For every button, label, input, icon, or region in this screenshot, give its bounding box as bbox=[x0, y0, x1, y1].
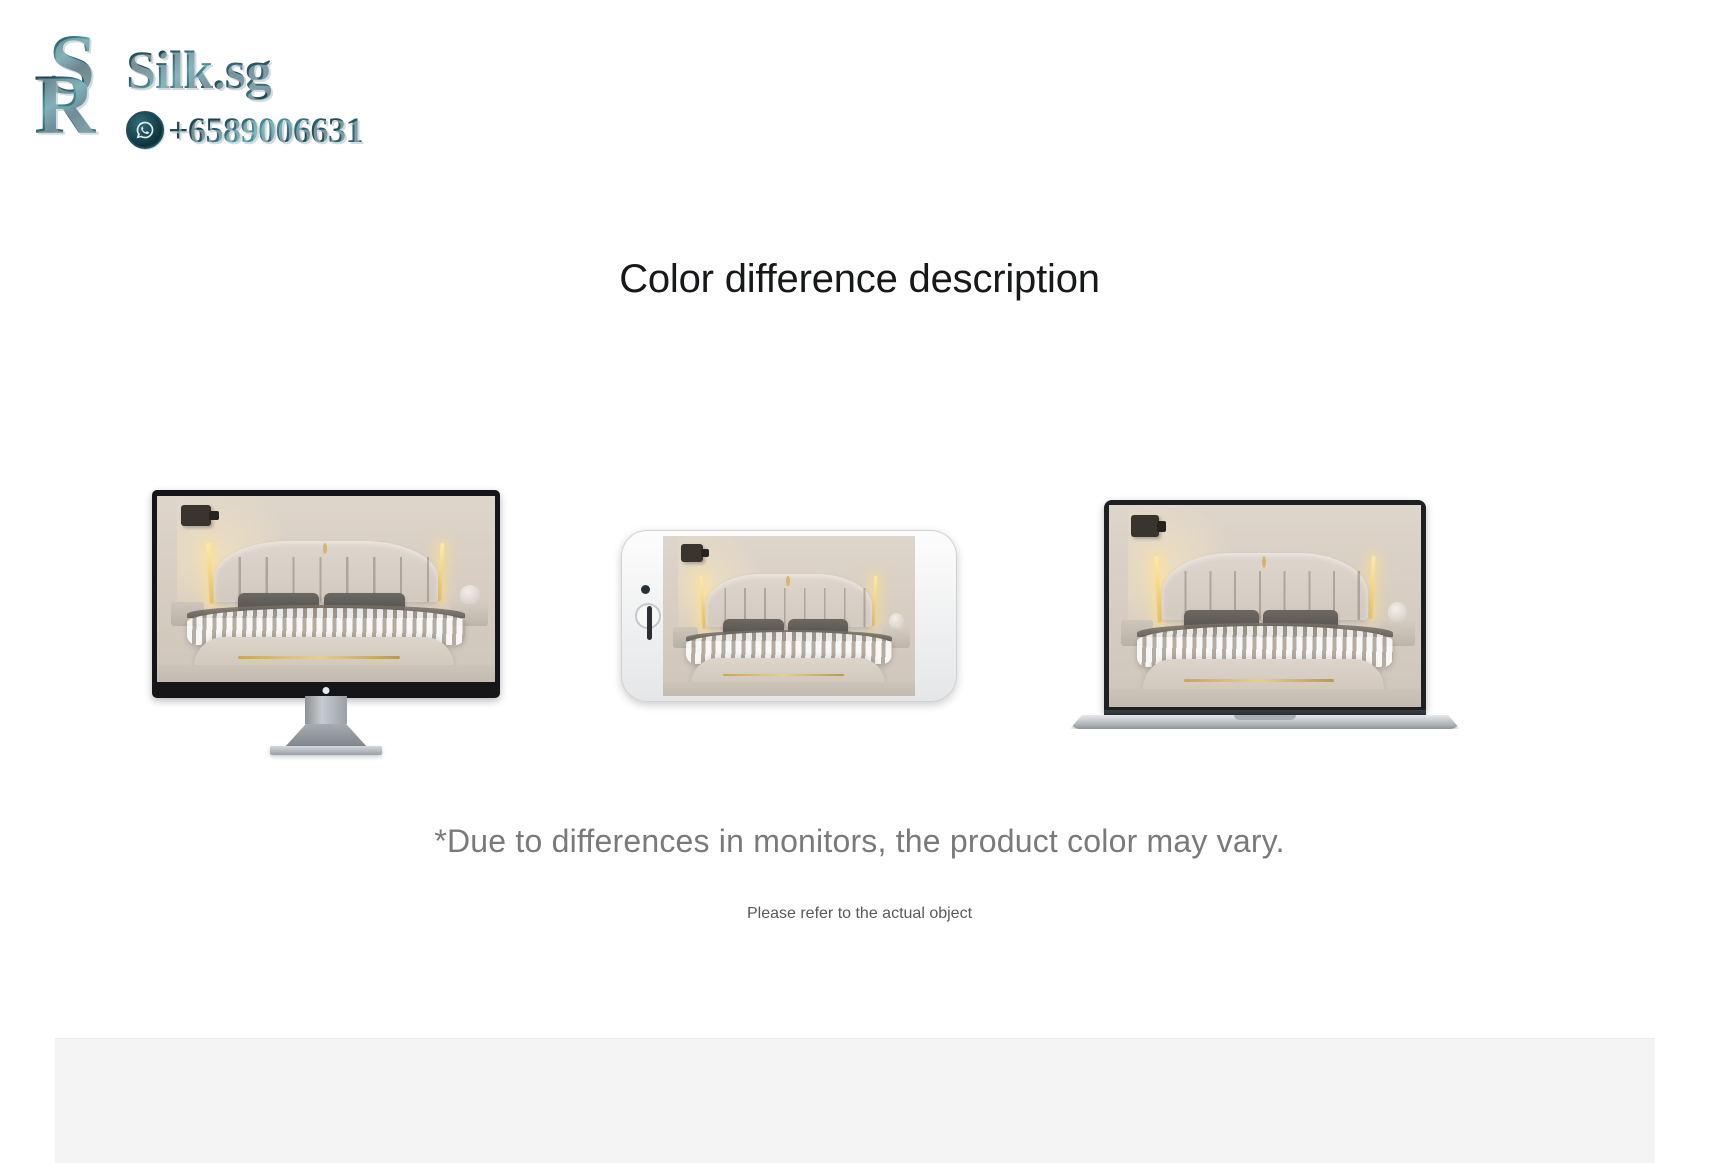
headboard-crest bbox=[1262, 556, 1266, 568]
flower-vase bbox=[460, 585, 480, 604]
logo-monogram: S R bbox=[38, 27, 134, 145]
wall-lamp bbox=[181, 505, 211, 525]
led-strip-right bbox=[1368, 555, 1375, 618]
monogram-letter-r: R bbox=[34, 61, 96, 147]
phone-screen bbox=[663, 536, 915, 696]
device-mockup-phone bbox=[621, 530, 957, 702]
flower-vase bbox=[1388, 602, 1407, 622]
device-mockup-monitor bbox=[152, 490, 500, 775]
headboard-crest bbox=[786, 576, 790, 586]
floor bbox=[157, 665, 495, 682]
led-strip-right bbox=[438, 542, 445, 600]
flower-vase bbox=[889, 613, 904, 629]
whatsapp-icon[interactable] bbox=[126, 111, 164, 149]
headboard-crest bbox=[323, 543, 328, 554]
phone-body bbox=[621, 530, 957, 702]
color-disclaimer-text: *Due to differences in monitors, the pro… bbox=[0, 823, 1719, 860]
led-strip-right bbox=[872, 576, 878, 626]
floor bbox=[663, 682, 915, 696]
brand-wordmark: Silk.sg bbox=[126, 39, 271, 101]
bottom-section-divider bbox=[55, 1038, 1655, 1163]
monitor-power-indicator bbox=[323, 687, 330, 694]
laptop-trackpad-notch bbox=[1234, 715, 1296, 720]
phone-front-camera bbox=[641, 585, 650, 594]
brand-contact-row[interactable]: +6589006631 bbox=[126, 109, 363, 151]
monitor-stand-base bbox=[284, 724, 368, 748]
monitor-screen bbox=[157, 496, 495, 682]
footboard-gold-trim bbox=[723, 674, 844, 677]
refer-to-actual-object-note: Please refer to the actual object bbox=[0, 905, 1719, 923]
brand-phone-number: +6589006631 bbox=[168, 109, 363, 151]
wall-lamp bbox=[1131, 515, 1159, 537]
device-mockup-laptop bbox=[1070, 500, 1460, 762]
laptop-screen bbox=[1109, 505, 1421, 707]
page-title: Color difference description bbox=[0, 257, 1719, 302]
footboard-gold-trim bbox=[238, 656, 400, 659]
monitor-stand-foot bbox=[270, 746, 382, 755]
floor bbox=[1109, 689, 1421, 707]
wall-lamp bbox=[681, 544, 704, 562]
brand-logo[interactable]: S R Silk.sg +6589006631 bbox=[38, 25, 358, 150]
phone-earpiece-speaker bbox=[647, 606, 652, 640]
device-mockups-row bbox=[0, 470, 1719, 790]
laptop-lid bbox=[1104, 500, 1426, 712]
bedroom-product-photo bbox=[663, 536, 915, 696]
monitor-bezel bbox=[152, 490, 500, 698]
bedroom-product-photo bbox=[157, 496, 495, 682]
bedroom-product-photo bbox=[1109, 505, 1421, 707]
monitor-stand-neck bbox=[305, 696, 347, 724]
footboard-gold-trim bbox=[1184, 679, 1334, 682]
